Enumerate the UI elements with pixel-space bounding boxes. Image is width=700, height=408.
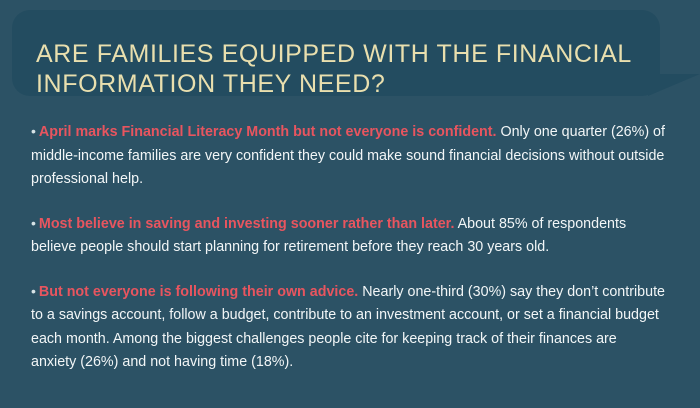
bullet-paragraph-1-lead: April marks Financial Literacy Month but… [39, 124, 497, 140]
bullet-point-icon: • [31, 283, 36, 299]
bullet-point-icon: • [31, 123, 36, 139]
page-title: ARE FAMILIES EQUIPPED WITH THE FINANCIAL… [36, 39, 636, 99]
bullet-paragraph-2: •Most believe in saving and investing so… [31, 212, 665, 260]
speech-bubble-tail-icon [648, 74, 700, 96]
bullet-paragraph-3: •But not everyone is following their own… [31, 280, 665, 375]
body-copy: •April marks Financial Literacy Month bu… [31, 120, 665, 375]
bullet-paragraph-2-lead: Most believe in saving and investing soo… [39, 216, 455, 232]
bullet-point-icon: • [31, 215, 36, 231]
bullet-paragraph-3-lead: But not everyone is following their own … [39, 284, 358, 300]
headline-speech-bubble: ARE FAMILIES EQUIPPED WITH THE FINANCIAL… [0, 0, 700, 118]
bullet-paragraph-1: •April marks Financial Literacy Month bu… [31, 120, 665, 192]
infographic-slide: ARE FAMILIES EQUIPPED WITH THE FINANCIAL… [0, 0, 700, 408]
